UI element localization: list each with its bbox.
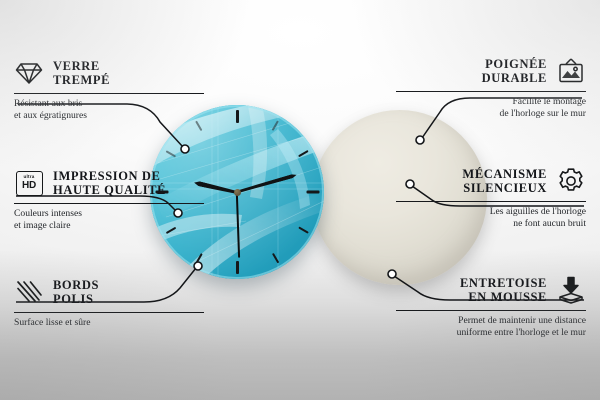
infographic-canvas: VERRE TREMPÉ Résistant aux bris et aux é…: [0, 0, 600, 400]
feature-verre-trempe[interactable]: VERRE TREMPÉ Résistant aux bris et aux é…: [14, 58, 204, 121]
ultra-hd-icon: ultra HD: [14, 168, 44, 198]
diamond-icon: [14, 58, 44, 88]
feature-description: Couleurs intenses et image claire: [14, 208, 204, 231]
feature-entretoise-en-mousse[interactable]: ENTRETOISE EN MOUSSE Permet de maintenir…: [396, 275, 586, 338]
polished-edges-icon: [14, 277, 44, 307]
feature-description: Résistant aux bris et aux égratignures: [14, 98, 204, 121]
feature-description: Permet de maintenir une distance uniform…: [396, 315, 586, 338]
minute-hand: [236, 173, 297, 194]
ultra-hd-icon-main: HD: [22, 181, 36, 191]
feature-bords-polis[interactable]: BORDS POLIS Surface lisse et sûre: [14, 277, 204, 329]
hands-center-cap: [234, 189, 241, 196]
feature-poignee-durable[interactable]: POIGNÉE DURABLE Facilite le montage de l…: [396, 56, 586, 119]
feature-header: ultra HD IMPRESSION DE HAUTE QUALITÉ: [14, 168, 204, 198]
feature-header: MÉCANISME SILENCIEUX: [396, 166, 586, 196]
feature-header: POIGNÉE DURABLE: [396, 56, 586, 86]
wall-hanger-icon: [556, 56, 586, 86]
second-hand: [236, 192, 240, 258]
feature-title: VERRE TREMPÉ: [53, 59, 110, 87]
feature-divider: [14, 203, 204, 204]
feature-title: MÉCANISME SILENCIEUX: [462, 167, 547, 195]
spacer-arrow-icon: [556, 275, 586, 305]
feature-divider: [396, 201, 586, 202]
feature-title: BORDS POLIS: [53, 278, 99, 306]
feature-divider: [396, 310, 586, 311]
feature-divider: [14, 93, 204, 94]
feature-header: VERRE TREMPÉ: [14, 58, 204, 88]
feature-description: Les aiguilles de l'horloge ne font aucun…: [396, 206, 586, 229]
feature-description: Facilite le montage de l'horloge sur le …: [396, 96, 586, 119]
feature-title: ENTRETOISE EN MOUSSE: [460, 276, 547, 304]
feature-title: POIGNÉE DURABLE: [482, 57, 547, 85]
feature-mecanisme-silencieux[interactable]: MÉCANISME SILENCIEUX Les aiguilles de l'…: [396, 166, 586, 229]
feature-impression-haute-qualite[interactable]: ultra HD IMPRESSION DE HAUTE QUALITÉ Cou…: [14, 168, 204, 231]
feature-header: ENTRETOISE EN MOUSSE: [396, 275, 586, 305]
feature-description: Surface lisse et sûre: [14, 317, 204, 329]
gear-icon: [556, 166, 586, 196]
feature-divider: [396, 91, 586, 92]
feature-divider: [14, 312, 204, 313]
feature-header: BORDS POLIS: [14, 277, 204, 307]
feature-title: IMPRESSION DE HAUTE QUALITÉ: [53, 169, 166, 197]
